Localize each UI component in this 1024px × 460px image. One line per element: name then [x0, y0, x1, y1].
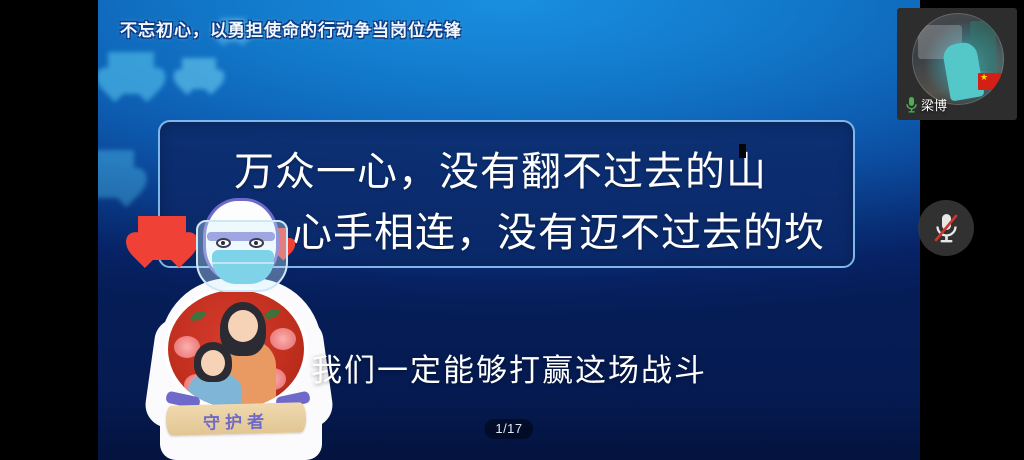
mute-toggle-button[interactable] — [918, 200, 974, 256]
video-meeting-screen: 不忘初心，以勇担使命的行动争当岗位先锋 万众一心，没有翻不过去的山 心手相连，没… — [0, 0, 1024, 460]
participant-tile[interactable]: 梁博 — [897, 8, 1017, 120]
shared-slide-surface[interactable]: 不忘初心，以勇担使命的行动争当岗位先锋 万众一心，没有翻不过去的山 心手相连，没… — [98, 0, 920, 460]
page-indicator: 1/17 — [484, 419, 533, 439]
leaf-icon — [189, 309, 207, 322]
background-heart-icon — [108, 52, 154, 94]
participant-name-label: 梁博 — [921, 95, 947, 114]
slide-banner-headline: 不忘初心，以勇担使命的行动争当岗位先锋 — [120, 16, 462, 41]
mother-face — [228, 310, 258, 342]
quote-line-1: 万众一心，没有翻不过去的山 — [234, 139, 767, 197]
quote-line-2: 心手相连，没有迈不过去的坎 — [292, 200, 825, 258]
pupil-right — [254, 241, 258, 245]
pupil-left — [221, 241, 225, 245]
background-heart-icon — [98, 150, 134, 198]
participant-video-thumbnail[interactable] — [912, 13, 1004, 105]
surgical-mask — [212, 250, 274, 284]
guardian-illustration: 守护者 — [108, 198, 323, 460]
leaf-icon — [263, 307, 281, 320]
mouse-cursor-artifact — [739, 144, 746, 158]
microphone-on-icon — [905, 96, 918, 113]
slide-subtitle: 我们一定能够打赢这场战斗 — [98, 345, 920, 390]
microphone-muted-icon — [931, 211, 961, 245]
background-heart-icon — [182, 58, 216, 89]
participant-name-row: 梁博 — [905, 95, 947, 114]
guardian-sash-label: 守护者 — [166, 406, 307, 435]
red-heart-icon — [138, 216, 186, 260]
mask-fold — [212, 262, 274, 264]
video-flag — [978, 73, 1002, 90]
